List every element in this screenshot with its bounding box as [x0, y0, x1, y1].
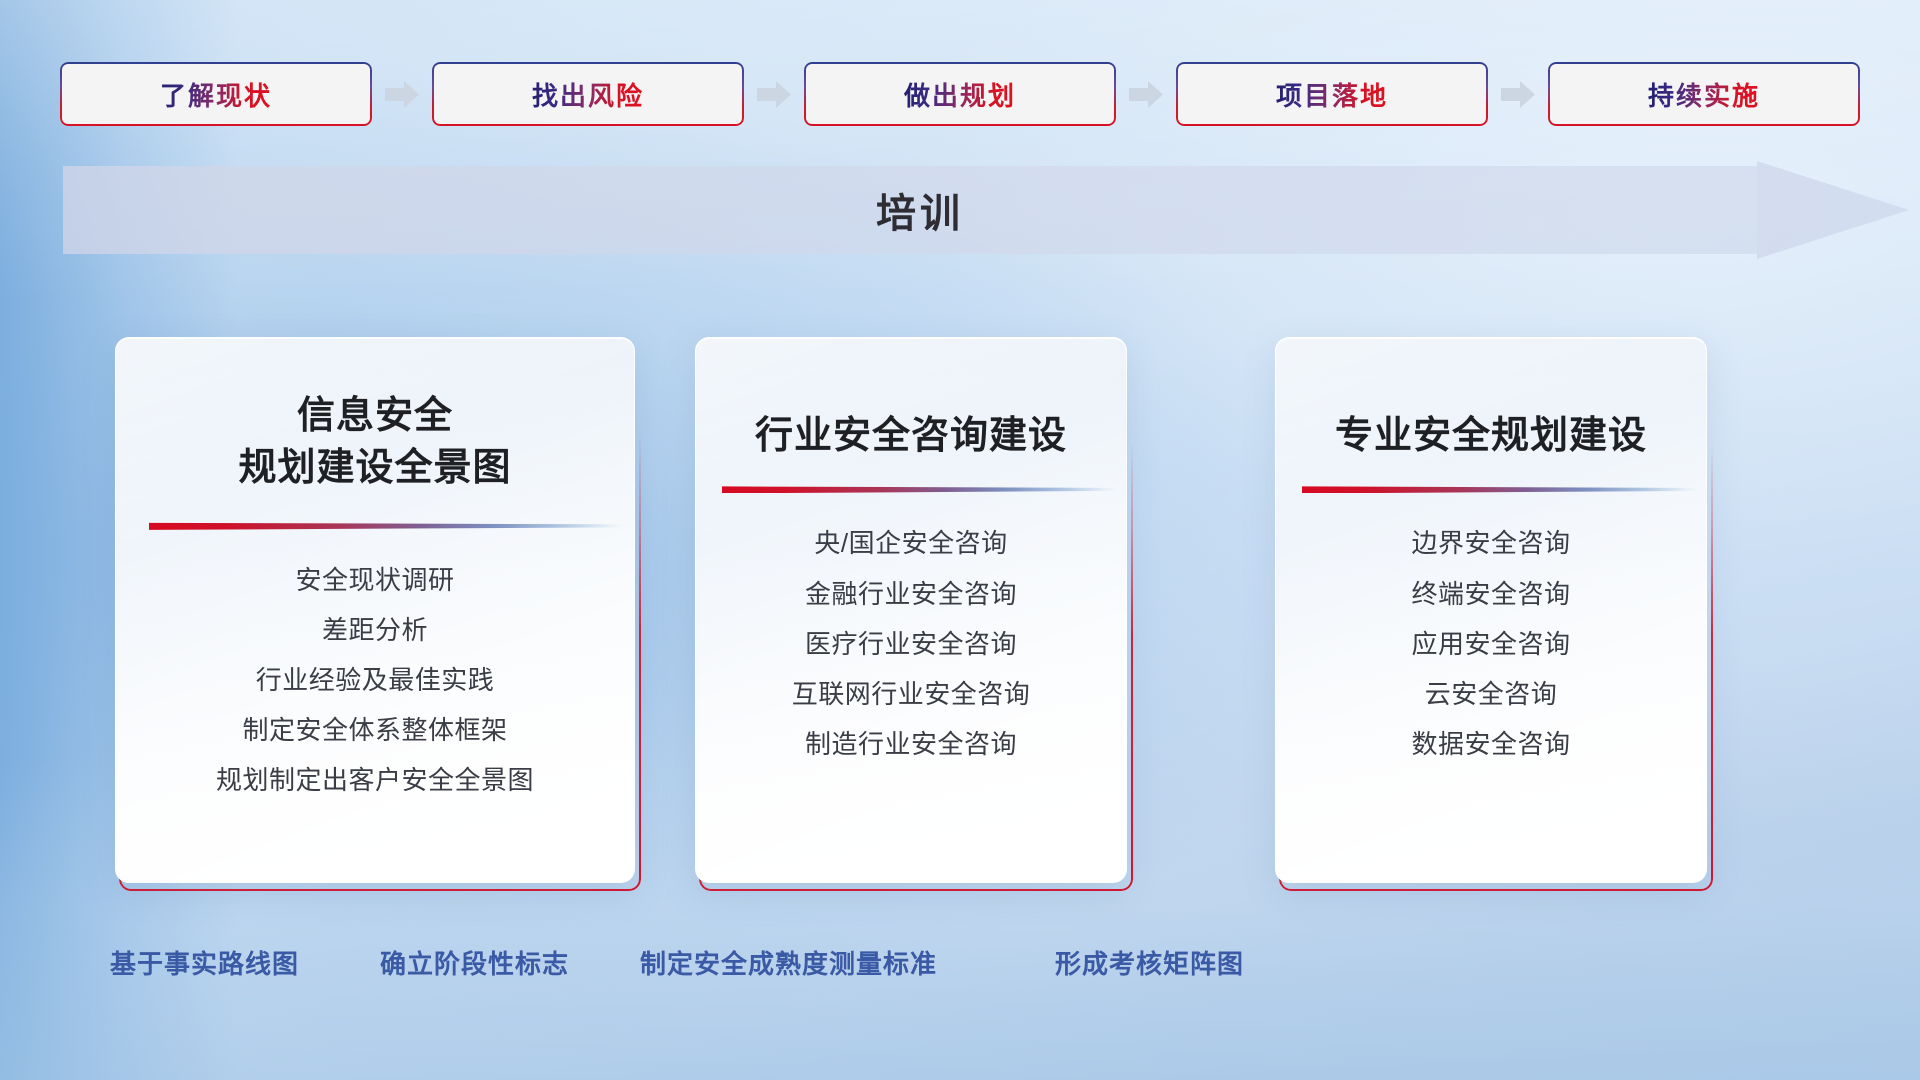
service-card-2[interactable]: 行业安全咨询建设央/国企安全咨询金融行业安全咨询医疗行业安全咨询互联网行业安全咨…: [695, 337, 1127, 883]
card-item: 制定安全体系整体框架: [242, 709, 507, 751]
step-label: 做出规划: [904, 76, 1016, 113]
card-title: 信息安全 规划建设全景图: [238, 390, 511, 495]
card-title: 行业安全咨询建设: [755, 410, 1067, 462]
step-label: 持续实施: [1648, 76, 1760, 113]
card-item: 云安全咨询: [1425, 673, 1558, 715]
card-item-list: 安全现状调研差距分析行业经验及最佳实践制定安全体系整体框架规划制定出客户安全全景…: [116, 559, 634, 802]
footer-label-2: 确立阶段性标志: [380, 944, 569, 981]
card-item-list: 边界安全咨询终端安全咨询应用安全咨询云安全咨询数据安全咨询: [1276, 522, 1706, 765]
footer-label-4: 形成考核矩阵图: [1055, 944, 1244, 981]
card-item: 安全现状调研: [295, 559, 454, 601]
service-card-1[interactable]: 信息安全 规划建设全景图安全现状调研差距分析行业经验及最佳实践制定安全体系整体框…: [115, 337, 635, 883]
card-item: 金融行业安全咨询: [805, 573, 1017, 615]
card-item: 互联网行业安全咨询: [792, 673, 1031, 715]
card-item: 医疗行业安全咨询: [805, 623, 1017, 665]
service-card-3[interactable]: 专业安全规划建设边界安全咨询终端安全咨询应用安全咨询云安全咨询数据安全咨询: [1275, 337, 1707, 883]
step-label: 找出风险: [532, 76, 644, 113]
card-divider: [1302, 484, 1696, 494]
footer-label-3: 制定安全成熟度测量标准: [640, 944, 937, 981]
card-divider: [722, 484, 1116, 494]
footer-label-1: 基于事实路线图: [110, 944, 299, 981]
card-item: 央/国企安全咨询: [814, 522, 1007, 564]
card-item: 数据安全咨询: [1411, 723, 1570, 765]
card-item: 规划制定出客户安全全景图: [216, 759, 534, 801]
card-item: 终端安全咨询: [1411, 573, 1570, 615]
footer-label-group: 基于事实路线图确立阶段性标志制定安全成熟度测量标准形成考核矩阵图: [0, 944, 1920, 988]
card-item: 行业经验及最佳实践: [256, 659, 495, 701]
card-item: 应用安全咨询: [1411, 623, 1570, 665]
card-title: 专业安全规划建设: [1335, 410, 1647, 462]
card-item: 制造行业安全咨询: [805, 723, 1017, 765]
card-surface: 行业安全咨询建设央/国企安全咨询金融行业安全咨询医疗行业安全咨询互联网行业安全咨…: [695, 337, 1127, 883]
card-surface: 信息安全 规划建设全景图安全现状调研差距分析行业经验及最佳实践制定安全体系整体框…: [115, 337, 635, 883]
card-divider: [149, 521, 624, 531]
step-label: 了解现状: [160, 76, 272, 113]
card-surface: 专业安全规划建设边界安全咨询终端安全咨询应用安全咨询云安全咨询数据安全咨询: [1275, 337, 1707, 883]
card-item-list: 央/国企安全咨询金融行业安全咨询医疗行业安全咨询互联网行业安全咨询制造行业安全咨…: [696, 522, 1126, 765]
card-item: 差距分析: [322, 609, 428, 651]
step-label: 项目落地: [1276, 76, 1388, 113]
card-item: 边界安全咨询: [1411, 522, 1570, 564]
card-group: 信息安全 规划建设全景图安全现状调研差距分析行业经验及最佳实践制定安全体系整体框…: [0, 0, 1920, 1080]
